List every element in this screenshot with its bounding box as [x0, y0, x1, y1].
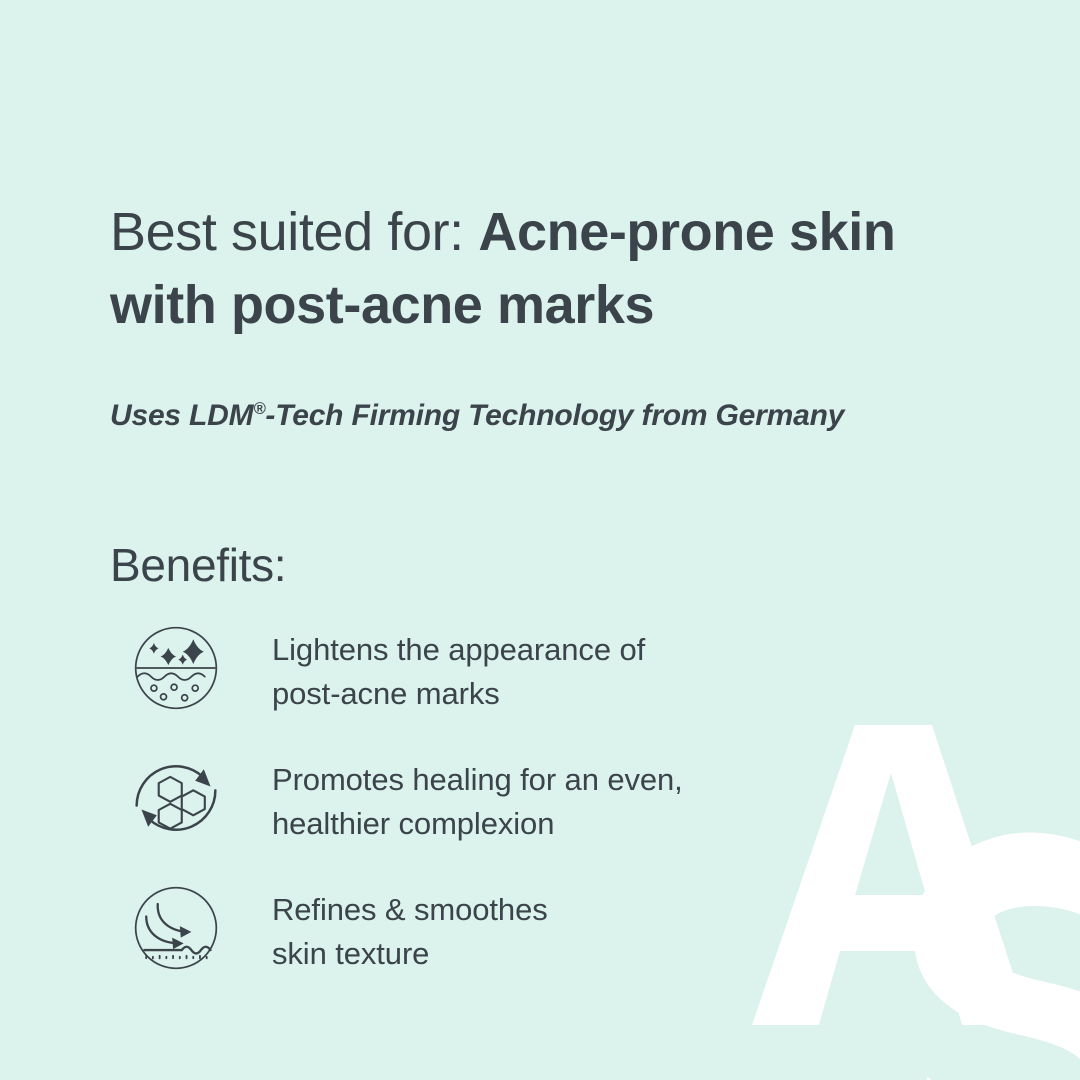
list-item: Promotes healing for an even, healthier … [128, 750, 888, 880]
list-item: Lightens the appearance of post-acne mar… [128, 620, 888, 750]
brightening-skin-sparkle-icon [128, 620, 224, 716]
benefit-line-1: Lightens the appearance of [272, 628, 888, 672]
promo-card: Best suited for: Acne-prone skin with po… [0, 0, 1080, 1080]
technology-subheading: Uses LDM®-Tech Firming Technology from G… [110, 390, 870, 442]
headline-lead: Best suited for: [110, 202, 478, 262]
benefit-text: Refines & smoothes skin texture [272, 880, 888, 976]
benefit-line-2: healthier complexion [272, 802, 888, 846]
subhead-before-mark: Uses LDM [110, 399, 253, 432]
benefit-line-2: post-acne marks [272, 672, 888, 716]
benefit-line-2: skin texture [272, 932, 888, 976]
benefits-title: Benefits: [110, 538, 286, 592]
benefit-line-1: Refines & smoothes [272, 888, 888, 932]
list-item: Refines & smoothes skin texture [128, 880, 888, 1010]
benefits-list: Lightens the appearance of post-acne mar… [128, 620, 888, 1010]
registered-trademark-icon: ® [253, 400, 265, 418]
cell-renewal-hexagon-icon [128, 750, 224, 846]
benefit-text: Lightens the appearance of post-acne mar… [272, 620, 888, 716]
benefit-line-1: Promotes healing for an even, [272, 758, 888, 802]
benefit-text: Promotes healing for an even, healthier … [272, 750, 888, 846]
smooth-texture-arrows-icon [128, 880, 224, 976]
subhead-after-mark: -Tech Firming Technology from Germany [265, 399, 844, 432]
page-headline: Best suited for: Acne-prone skin with po… [110, 196, 990, 343]
